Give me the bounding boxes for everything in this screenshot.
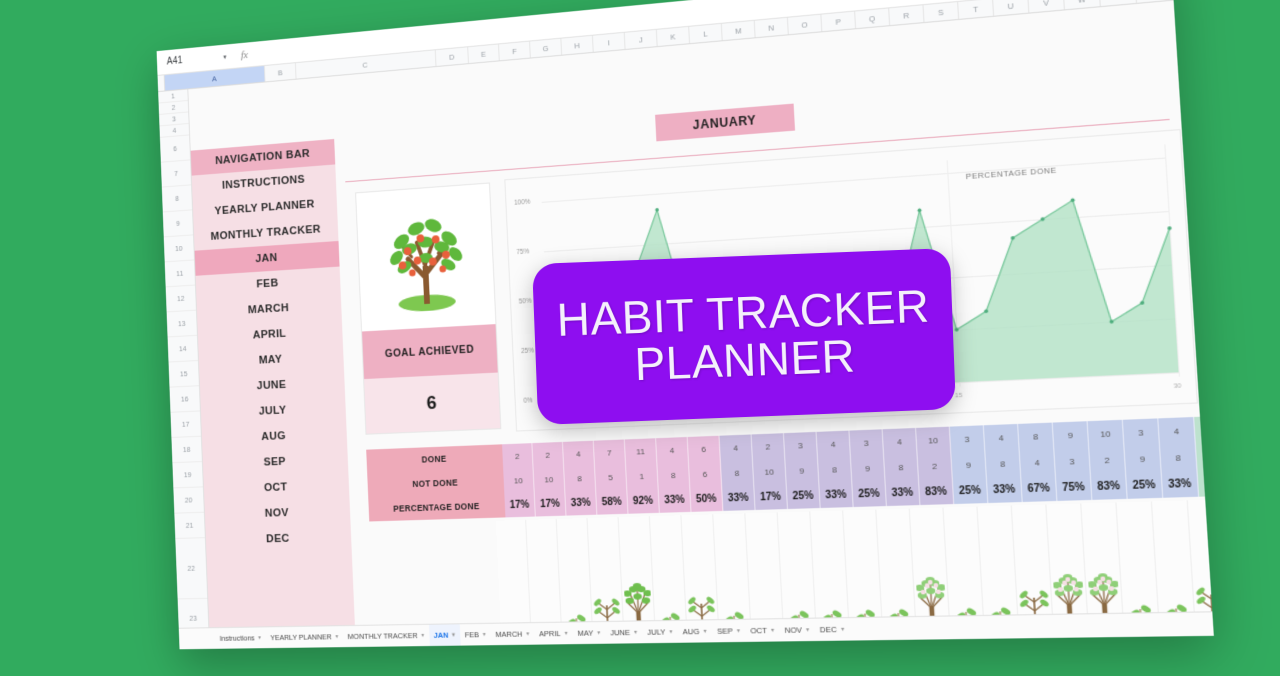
stats-cell-done: 4 <box>817 431 851 458</box>
stats-column: 4833% <box>1158 417 1199 498</box>
sheet-tab-june[interactable]: JUNE▾ <box>605 621 643 643</box>
row-header-20[interactable]: 20 <box>173 487 204 513</box>
stats-cell-done: 7 <box>594 439 626 465</box>
sheet-tab-label: Instructions <box>220 633 255 642</box>
stats-cell-not-done: 8 <box>657 462 690 488</box>
goal-achieved-label: GOAL ACHIEVED <box>362 324 498 379</box>
sheet-tab-instructions[interactable]: Instructions▾ <box>215 627 266 648</box>
stats-cell-done: 10 <box>1088 420 1125 448</box>
sheet-tab-label: MAY <box>577 628 593 638</box>
column-header-i[interactable]: I <box>593 33 626 52</box>
sheet-tab-sep[interactable]: SEP▾ <box>711 620 745 643</box>
stats-cell-done: 3 <box>784 432 818 459</box>
stats-cell-not-done: 9 <box>785 457 819 483</box>
sheet-tab-label: MONTHLY TRACKER <box>347 631 417 641</box>
stats-cell-done: 10 <box>916 427 951 454</box>
column-header-b[interactable]: B <box>265 63 297 81</box>
stats-cell-not-done: 6 <box>689 461 722 487</box>
stats-column: 4833% <box>984 424 1023 503</box>
stats-cell-percentage: 25% <box>953 477 989 504</box>
stats-cell-percentage: 25% <box>852 480 887 507</box>
stats-cell-percentage: 50% <box>690 486 723 512</box>
stats-cell-done: 2 <box>532 442 564 468</box>
sheet-tab-label: OCT <box>750 626 767 636</box>
tree-illustration <box>356 184 495 332</box>
row-header-6[interactable]: 6 <box>160 135 190 162</box>
row-header-11[interactable]: 11 <box>165 260 195 287</box>
stats-column: 21017% <box>752 433 788 510</box>
stats-cell-not-done: 9 <box>851 455 886 482</box>
row-header-19[interactable]: 19 <box>172 462 203 488</box>
sheet-tab-april[interactable]: APRIL▾ <box>534 623 573 645</box>
stats-cell-done: 3 <box>950 425 986 452</box>
stats-cell-not-done: 4 <box>1020 449 1056 476</box>
stats-cell-not-done: 8 <box>884 454 919 481</box>
stats-cell-percentage: 33% <box>987 476 1023 503</box>
stats-column: 7558% <box>594 439 629 514</box>
row-header-12[interactable]: 12 <box>166 286 196 313</box>
stats-cell-percentage: 17% <box>535 491 567 517</box>
column-header-e[interactable]: E <box>468 44 500 63</box>
chart-data-point <box>1167 226 1171 230</box>
sheet-tab-label: MARCH <box>495 629 522 639</box>
sheet-tab-march[interactable]: MARCH▾ <box>490 623 535 645</box>
chart-data-point <box>917 208 921 212</box>
stats-cell-not-done: 1 <box>626 463 659 489</box>
row-header-21[interactable]: 21 <box>174 513 205 539</box>
stats-cell-not-done: 9 <box>1124 445 1161 473</box>
chevron-down-icon[interactable]: ▾ <box>421 632 424 639</box>
chevron-down-icon[interactable]: ▾ <box>597 629 600 636</box>
stats-cell-percentage: 25% <box>1126 471 1163 499</box>
row-header-9[interactable]: 9 <box>163 210 193 237</box>
sheet-tab-feb[interactable]: FEB▾ <box>459 624 491 646</box>
column-header-l[interactable]: L <box>689 24 722 43</box>
stats-column: 9375% <box>1053 421 1093 501</box>
nav-bar-filler <box>206 550 356 627</box>
stats-cell-percentage: 33% <box>885 479 920 506</box>
stats-cell-done: 8 <box>1194 416 1212 444</box>
stats-column: 21017% <box>502 443 536 517</box>
stats-cell-done: 6 <box>688 436 721 462</box>
chevron-down-icon[interactable]: ▾ <box>737 627 741 634</box>
presentation-stage: A41 ▾ fx ABCDEFGHIJKLMNOPQRSTUVWXY 12346… <box>0 0 1280 676</box>
name-box[interactable]: A41 ▾ <box>162 47 230 72</box>
stats-column: 4833% <box>720 434 756 510</box>
chevron-down-icon[interactable]: ▾ <box>669 628 672 635</box>
apple-tree-icon <box>377 201 473 314</box>
column-header-t[interactable]: T <box>958 0 994 19</box>
stats-cell-not-done: 8 <box>721 460 754 486</box>
sheet-tab-dec[interactable]: DEC▾ <box>814 618 850 641</box>
stats-cell-percentage: 67% <box>1021 475 1057 502</box>
stats-cell-done: 2 <box>502 443 533 469</box>
row-header-16[interactable]: 16 <box>170 386 200 413</box>
stats-cell-not-done: 2 <box>1089 446 1126 474</box>
sheet-tab-label: APRIL <box>539 629 561 639</box>
plant-growth-strip <box>496 499 1212 627</box>
sheet-tab-may[interactable]: MAY▾ <box>572 622 606 644</box>
chevron-down-icon[interactable]: ▾ <box>634 629 637 636</box>
row-header-13[interactable]: 13 <box>167 311 197 338</box>
chevron-down-icon[interactable]: ▾ <box>223 53 226 61</box>
chevron-down-icon[interactable]: ▾ <box>526 630 529 637</box>
sheet-tab-july[interactable]: JULY▾ <box>642 621 679 643</box>
row-header-17[interactable]: 17 <box>170 411 200 438</box>
sheet-tab-label: FEB <box>465 630 480 639</box>
column-header-q[interactable]: Q <box>855 8 890 28</box>
stats-cell-percentage: 92% <box>627 488 660 514</box>
stats-row-labels: DONENOT DONEPERCENTAGE DONE <box>366 444 505 521</box>
column-header-n[interactable]: N <box>755 18 789 38</box>
stats-cell-percentage: 33% <box>565 490 597 516</box>
stats-column: 3925% <box>784 432 821 509</box>
stats-cell-done: 4 <box>720 434 753 460</box>
chevron-down-icon[interactable]: ▾ <box>806 626 810 633</box>
navigation-bar: NAVIGATION BARINSTRUCTIONSYEARLY PLANNER… <box>191 139 357 627</box>
stats-cell-not-done: 8 <box>1160 444 1198 472</box>
stats-cell-not-done: 5 <box>595 464 627 490</box>
stats-column: 4833% <box>817 431 854 508</box>
stats-column: 10283% <box>1088 420 1128 500</box>
column-header-m[interactable]: M <box>722 21 756 40</box>
stats-cell-done: 2 <box>752 433 786 459</box>
stats-column: 8467% <box>1018 423 1057 502</box>
stats-column: 6650% <box>688 436 724 512</box>
stats-column: 3925% <box>849 429 886 507</box>
chevron-down-icon[interactable]: ▾ <box>452 631 455 638</box>
sheet-tab-label: JUNE <box>610 628 630 638</box>
nav-item-dec[interactable]: DEC <box>205 524 351 554</box>
stats-cell-percentage: 58% <box>596 489 628 515</box>
stats-cell-done: 4 <box>883 428 918 455</box>
sheet-tab-aug[interactable]: AUG▾ <box>677 620 712 642</box>
chevron-down-icon[interactable]: ▾ <box>335 633 338 640</box>
sheet-tab-yearly-planner[interactable]: YEARLY PLANNER▾ <box>265 626 343 648</box>
stats-cell-not-done: 10 <box>503 468 534 493</box>
stats-cell-percentage: 17% <box>504 492 536 517</box>
stats-cell-percentage: 83% <box>1091 472 1128 499</box>
sheet-tab-label: NOV <box>784 625 802 635</box>
sheet-tab-label: DEC <box>820 625 837 635</box>
stats-cell-not-done: 8 <box>818 456 852 483</box>
stats-cell-done: 4 <box>1158 417 1195 445</box>
stats-cell-percentage: 25% <box>787 483 821 509</box>
column-header-j[interactable]: J <box>625 30 658 49</box>
stats-cell-done: 4 <box>563 441 595 467</box>
stats-column: 4833% <box>656 437 691 513</box>
stats-cell-not-done: 3 <box>1054 447 1091 474</box>
habit-tracker-banner: HABIT TRACKER PLANNER <box>532 248 956 425</box>
stats-cell-percentage: 33% <box>819 482 853 508</box>
chevron-down-icon[interactable]: ▾ <box>564 630 567 637</box>
stats-cell-not-done: 4 <box>1196 442 1212 470</box>
goal-achieved-value: 6 <box>364 373 500 434</box>
sheet-tab-monthly-tracker[interactable]: MONTHLY TRACKER▾ <box>343 625 430 647</box>
chevron-down-icon[interactable]: ▾ <box>483 631 486 638</box>
row-header-7[interactable]: 7 <box>161 160 191 187</box>
column-header-g[interactable]: G <box>530 39 562 58</box>
stats-cell-percentage: 33% <box>659 487 692 513</box>
column-header-o[interactable]: O <box>788 15 822 35</box>
row-header-10[interactable]: 10 <box>164 235 194 262</box>
column-header-d[interactable]: D <box>436 47 469 66</box>
row-header-8[interactable]: 8 <box>162 185 192 212</box>
column-header-k[interactable]: K <box>657 27 690 46</box>
month-title: JANUARY <box>655 104 795 142</box>
column-header-p[interactable]: P <box>821 11 856 31</box>
stats-cell-done: 8 <box>1018 423 1054 450</box>
stats-cell-done: 4 <box>984 424 1020 451</box>
sheet-tab-label: JAN <box>434 631 449 640</box>
chevron-down-icon[interactable]: ▾ <box>771 627 775 634</box>
banner-line-2: PLANNER <box>634 332 856 387</box>
stats-column: 3925% <box>1123 418 1163 498</box>
stats-cell-done: 3 <box>849 429 884 456</box>
stats-cell-not-done: 8 <box>564 465 596 491</box>
stats-cell-percentage: 33% <box>1162 470 1200 498</box>
chevron-down-icon[interactable]: ▾ <box>258 634 261 641</box>
stats-cell-percentage: 75% <box>1056 474 1093 501</box>
chart-data-point <box>655 208 659 212</box>
goal-panel: GOAL ACHIEVED 6 <box>355 182 501 434</box>
row-header-14[interactable]: 14 <box>168 336 198 363</box>
sheet-tab-jan[interactable]: JAN▾ <box>429 624 461 646</box>
sheet-tab-nov[interactable]: NOV▾ <box>779 619 815 642</box>
stats-cell-percentage: 83% <box>919 478 954 505</box>
stats-column: 4833% <box>563 441 597 516</box>
stats-cell-not-done: 10 <box>534 466 566 492</box>
seed-icon <box>531 582 560 628</box>
stats-cell-percentage: 33% <box>722 485 755 511</box>
stats-cell-not-done: 2 <box>918 452 953 479</box>
chevron-down-icon[interactable]: ▾ <box>841 626 845 634</box>
column-header-f[interactable]: F <box>499 42 531 61</box>
column-header-h[interactable]: H <box>561 36 593 55</box>
sheet-tab-label: SEP <box>717 626 733 636</box>
sheet-tab-label: AUG <box>683 627 700 637</box>
stats-column: 11192% <box>625 438 660 514</box>
stats-column: 21017% <box>532 442 566 517</box>
stats-cell-percentage: 17% <box>754 484 788 510</box>
sheet-tab-oct[interactable]: OCT▾ <box>745 619 781 642</box>
row-header-15[interactable]: 15 <box>169 361 199 388</box>
chevron-down-icon[interactable]: ▾ <box>703 628 706 635</box>
stats-column: 3925% <box>950 425 989 504</box>
stats-cell-done: 3 <box>1123 418 1160 446</box>
row-header-18[interactable]: 18 <box>171 437 202 463</box>
stats-column: 4833% <box>883 428 921 506</box>
stats-cell-done: 11 <box>625 438 658 464</box>
stats-row-label-percentage-done: PERCENTAGE DONE <box>368 493 505 521</box>
sheet-tab-label: YEARLY PLANNER <box>270 632 332 642</box>
column-header-s[interactable]: S <box>924 2 960 22</box>
stats-cell-percentage: 67% <box>1198 469 1213 497</box>
stats-cell-not-done: 9 <box>951 451 987 478</box>
sheet-tab-label: JULY <box>647 627 666 637</box>
row-header-22[interactable]: 22 <box>175 538 207 599</box>
stats-cell-not-done: 10 <box>753 458 787 484</box>
seed-icon <box>501 582 529 627</box>
stats-cell-done: 9 <box>1053 421 1089 448</box>
stats-column: 10283% <box>916 427 954 505</box>
stats-cell-done: 4 <box>656 437 689 463</box>
stats-cell-not-done: 8 <box>985 450 1021 477</box>
name-box-value: A41 <box>167 55 183 67</box>
column-header-r[interactable]: R <box>889 5 924 25</box>
